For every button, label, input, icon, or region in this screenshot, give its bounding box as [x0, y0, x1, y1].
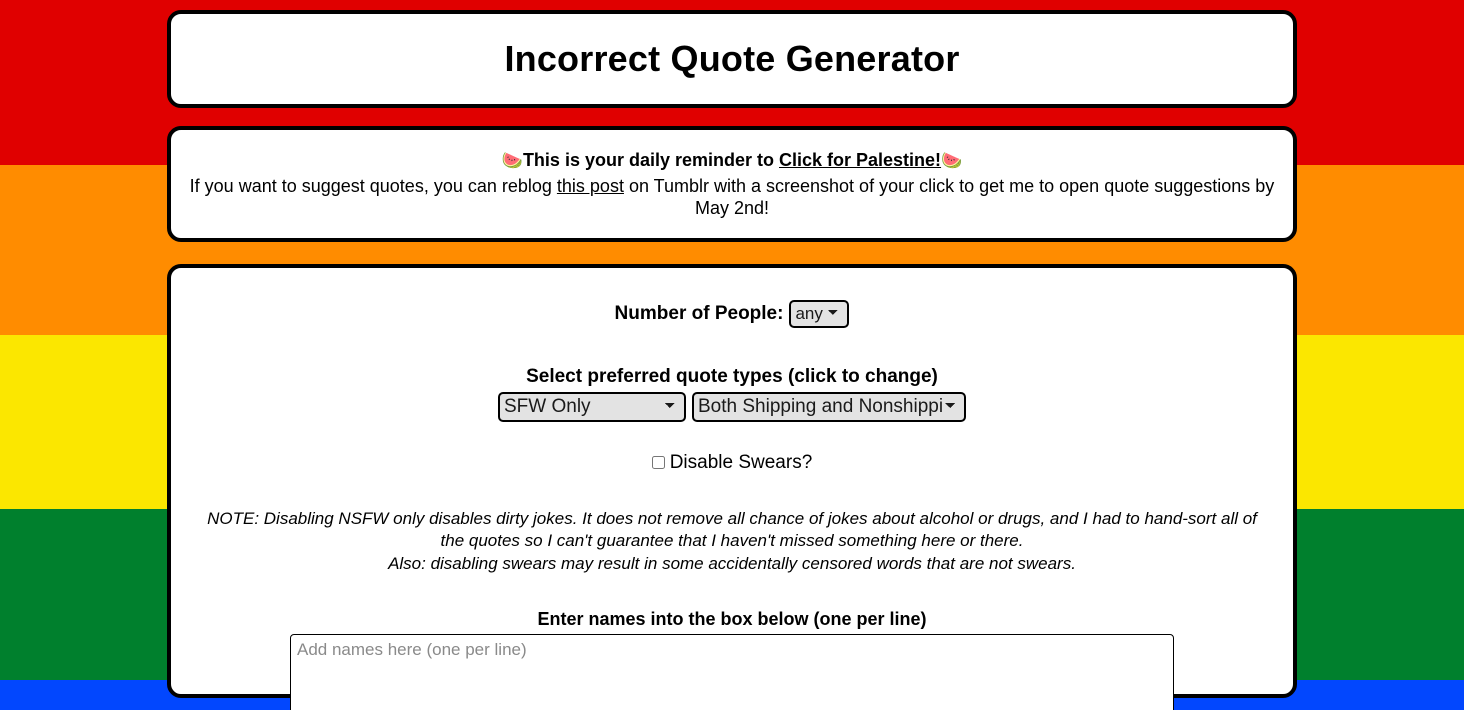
number-of-people-select[interactable]: any [789, 300, 849, 328]
disable-swears-checkbox[interactable] [652, 456, 665, 469]
this-post-link[interactable]: this post [557, 176, 624, 196]
notice-banner: 🍉This is your daily reminder to Click fo… [167, 126, 1297, 242]
quote-types-row: SFW Only Both Shipping and Nonshipping [185, 392, 1279, 422]
disable-swears-row: Disable Swears? [185, 452, 1279, 474]
names-input-label: Enter names into the box below (one per … [185, 609, 1279, 630]
number-of-people-label: Number of People: [615, 303, 784, 325]
number-of-people-row: Number of People: any [185, 300, 1279, 328]
page-title: Incorrect Quote Generator [504, 38, 959, 80]
note-line-1: NOTE: Disabling NSFW only disables dirty… [193, 508, 1271, 553]
note-line-2: Also: disabling swears may result in som… [193, 553, 1271, 575]
disable-swears-label[interactable]: Disable Swears? [670, 452, 813, 474]
note-text: NOTE: Disabling NSFW only disables dirty… [193, 508, 1271, 575]
notice-reminder-prefix: This is your daily reminder to [523, 150, 779, 170]
notice-suggestion-suffix: on Tumblr with a screenshot of your clic… [624, 176, 1274, 219]
click-for-palestine-link[interactable]: Click for Palestine! [779, 150, 941, 170]
watermelon-icon: 🍉 [502, 151, 523, 170]
sfw-filter-select[interactable]: SFW Only [498, 392, 686, 422]
quote-options-card: Number of People: any Select preferred q… [167, 264, 1297, 698]
names-textarea[interactable] [290, 634, 1174, 710]
shipping-filter-select[interactable]: Both Shipping and Nonshipping [692, 392, 966, 422]
quote-types-label: Select preferred quote types (click to c… [185, 366, 1279, 388]
notice-suggestion-prefix: If you want to suggest quotes, you can r… [190, 176, 557, 196]
title-card: Incorrect Quote Generator [167, 10, 1297, 108]
notice-suggestion-line: If you want to suggest quotes, you can r… [185, 175, 1279, 220]
notice-reminder-line: 🍉This is your daily reminder to Click fo… [185, 150, 1279, 171]
watermelon-icon: 🍉 [941, 151, 962, 170]
